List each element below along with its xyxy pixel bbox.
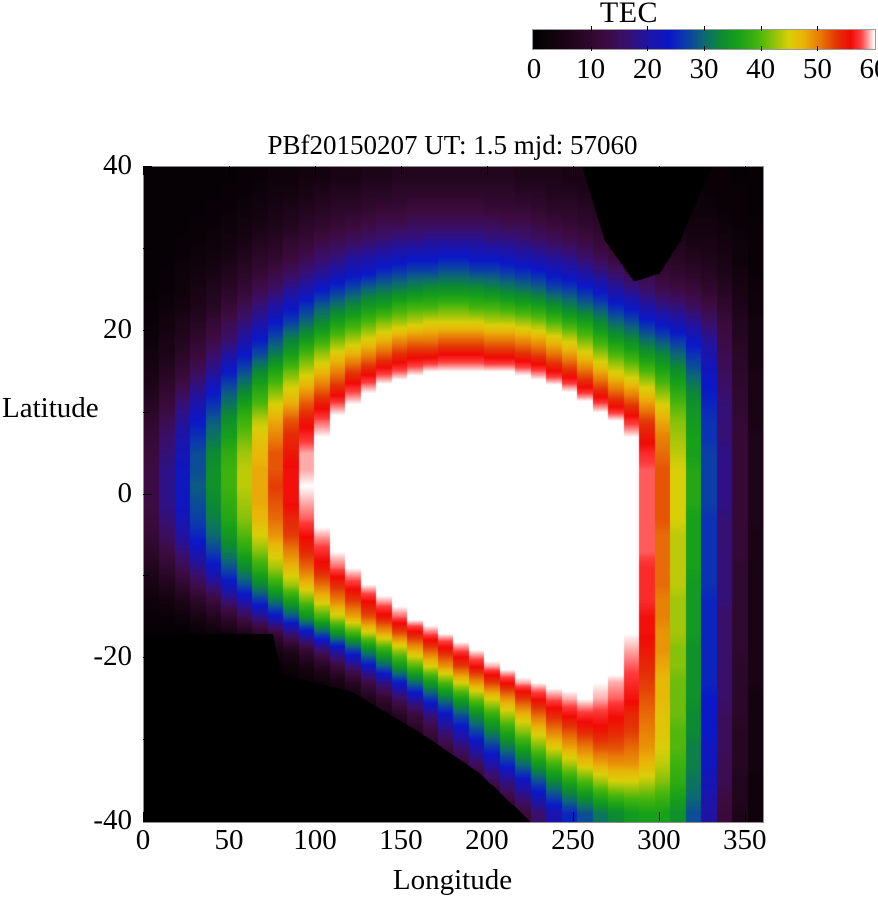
x-tick-label: 50 [214, 826, 243, 855]
x-tick-label: 350 [723, 826, 767, 855]
x-tick-label: 0 [136, 826, 151, 855]
y-axis-tick-labels: -40-2002040 [40, 0, 132, 900]
x-tick-mark [659, 812, 660, 821]
y-tick-mark [143, 494, 152, 495]
x-tick-label: 150 [379, 826, 423, 855]
x-tick-mark [229, 166, 230, 175]
tec-figure: TEC 0102030405060 PBf20150207 UT: 1.5 mj… [0, 0, 878, 900]
x-tick-mark [745, 166, 746, 175]
x-tick-mark [315, 812, 316, 821]
plot-title: PBf20150207 UT: 1.5 mjd: 57060 [143, 130, 762, 160]
colorbar-tick-label: 30 [690, 52, 719, 86]
x-tick-mark [401, 812, 402, 821]
y-tick-mark [143, 330, 152, 331]
x-tick-mark [143, 166, 144, 175]
x-axis-tick-labels: 050100150200250300350 [0, 826, 878, 862]
x-tick-mark [229, 812, 230, 821]
y-tick-label: 20 [103, 315, 132, 344]
y-tick-label: 0 [118, 479, 133, 508]
y-tick-label: -20 [93, 642, 132, 671]
colorbar-tick-label: 60 [860, 52, 878, 86]
heatmap-canvas [144, 167, 763, 822]
x-axis-label: Longitude [143, 864, 762, 896]
y-minor-tick-mark [143, 575, 149, 576]
colorbar-tick-label: 50 [803, 52, 832, 86]
y-tick-mark [143, 166, 152, 167]
y-tick-label: 40 [103, 151, 132, 180]
x-tick-label: 100 [293, 826, 337, 855]
x-tick-label: 250 [551, 826, 595, 855]
y-minor-tick-mark [143, 412, 149, 413]
y-tick-mark [143, 657, 152, 658]
colorbar-tick-label: 20 [633, 52, 662, 86]
x-tick-mark [659, 166, 660, 175]
y-minor-tick-mark [143, 248, 149, 249]
y-tick-mark [143, 821, 152, 822]
x-tick-label: 300 [637, 826, 681, 855]
x-tick-mark [745, 812, 746, 821]
colorbar-gradient [532, 29, 876, 50]
colorbar-tick-label: 0 [527, 52, 542, 86]
x-tick-mark [487, 166, 488, 175]
x-tick-label: 200 [465, 826, 509, 855]
heatmap-plot-area [143, 166, 764, 823]
x-tick-mark [315, 166, 316, 175]
colorbar-title: TEC [190, 0, 878, 28]
x-tick-mark [401, 166, 402, 175]
colorbar-tick-labels: 0102030405060 [532, 52, 876, 88]
x-tick-mark [487, 812, 488, 821]
colorbar-tick-label: 40 [746, 52, 775, 86]
y-minor-tick-mark [143, 739, 149, 740]
y-axis-label: Latitude [2, 392, 99, 424]
colorbar-canvas [533, 30, 875, 49]
x-tick-mark [573, 166, 574, 175]
colorbar-tick-label: 10 [576, 52, 605, 86]
x-tick-mark [143, 812, 144, 821]
x-tick-mark [573, 812, 574, 821]
